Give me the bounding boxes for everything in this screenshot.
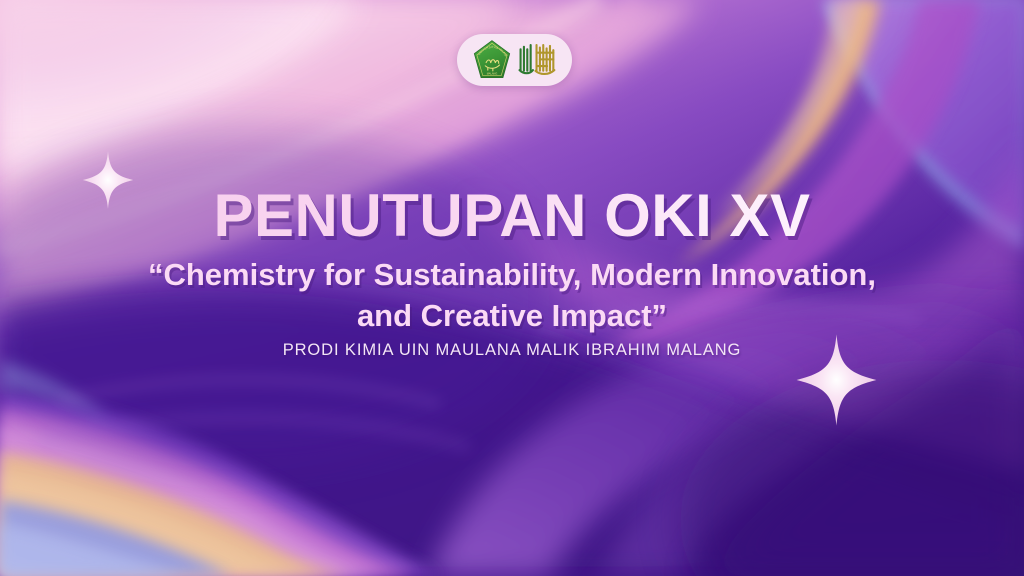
uin-maulana-malik-ibrahim-seal-icon: UNIVERSITAS ISLAM NEGERI MALANG	[471, 39, 513, 81]
svg-text:MALANG: MALANG	[486, 72, 497, 75]
arabic-calligraphy-logo-icon	[517, 39, 559, 81]
logo-pill: UNIVERSITAS ISLAM NEGERI MALANG	[457, 34, 572, 86]
background-artwork	[0, 0, 1024, 576]
poster-canvas: UNIVERSITAS ISLAM NEGERI MALANG	[0, 0, 1024, 576]
